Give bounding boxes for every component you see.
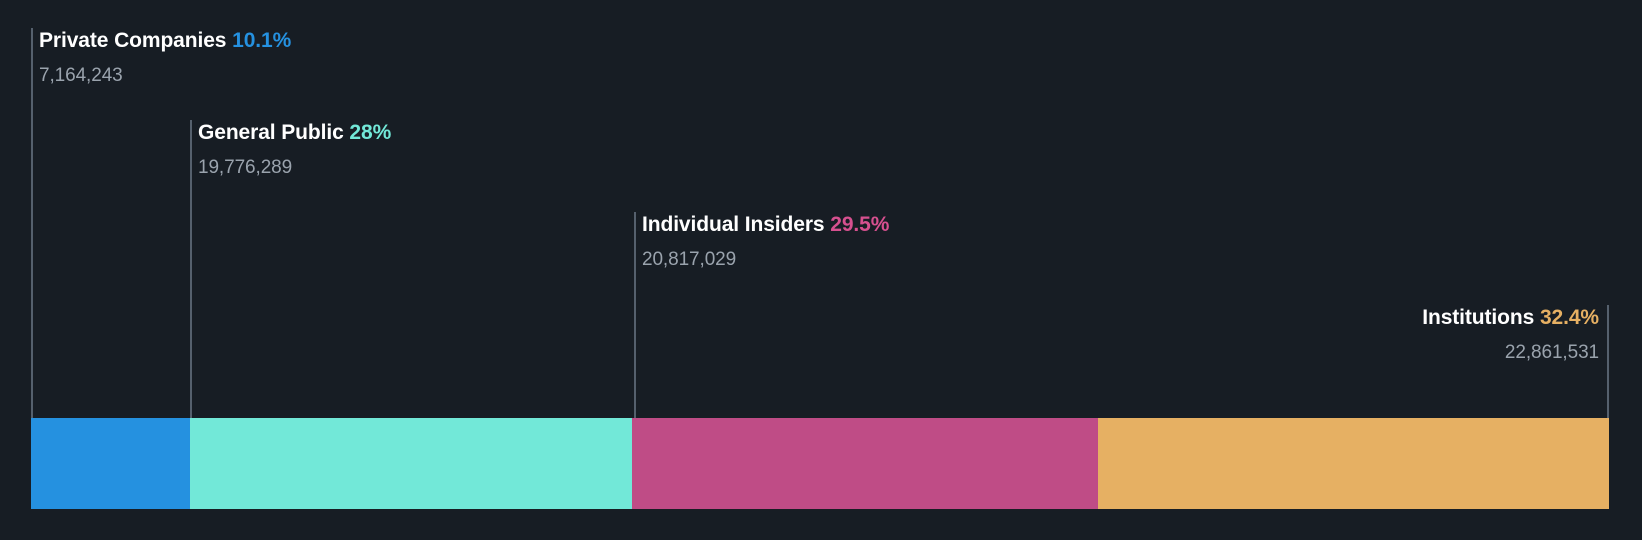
- callout-text-private-companies: Private Companies 10.1% 7,164,243: [39, 28, 291, 88]
- callout-individual-insiders[interactable]: Individual Insiders 29.5% 20,817,029: [634, 212, 984, 418]
- segment-count-general-public: 19,776,289: [198, 156, 391, 180]
- callout-title-institutions: Institutions 32.4%: [1422, 305, 1599, 331]
- callout-tick-general-public: [190, 120, 192, 418]
- bar-segment-private-companies[interactable]: [31, 418, 190, 509]
- ownership-breakdown-chart: Private Companies 10.1% 7,164,243 Genera…: [0, 0, 1642, 540]
- callout-tick-institutions: [1607, 305, 1609, 418]
- callout-text-institutions: Institutions 32.4% 22,861,531: [1422, 305, 1599, 365]
- segment-count-institutions: 22,861,531: [1422, 341, 1599, 365]
- segment-percent-general-public: 28%: [349, 121, 391, 144]
- callout-text-general-public: General Public 28% 19,776,289: [198, 120, 391, 180]
- callout-tick-private-companies: [31, 28, 33, 418]
- callout-tick-individual-insiders: [634, 212, 636, 418]
- segment-count-private-companies: 7,164,243: [39, 64, 291, 88]
- segment-label-institutions: Institutions: [1422, 306, 1534, 329]
- callout-title-private-companies: Private Companies 10.1%: [39, 28, 291, 54]
- callout-institutions[interactable]: Institutions 32.4% 22,861,531: [1259, 305, 1609, 418]
- stacked-bar: [31, 418, 1609, 509]
- segment-label-individual-insiders: Individual Insiders: [642, 213, 824, 236]
- segment-percent-institutions: 32.4%: [1540, 306, 1599, 329]
- bar-segment-general-public[interactable]: [190, 418, 632, 509]
- bar-segment-institutions[interactable]: [1098, 418, 1609, 509]
- segment-percent-individual-insiders: 29.5%: [830, 213, 889, 236]
- callout-text-individual-insiders: Individual Insiders 29.5% 20,817,029: [642, 212, 889, 272]
- segment-percent-private-companies: 10.1%: [232, 29, 291, 52]
- callout-title-individual-insiders: Individual Insiders 29.5%: [642, 212, 889, 238]
- segment-count-individual-insiders: 20,817,029: [642, 248, 889, 272]
- callout-general-public[interactable]: General Public 28% 19,776,289: [190, 120, 490, 418]
- segment-label-private-companies: Private Companies: [39, 29, 226, 52]
- bar-segment-individual-insiders[interactable]: [632, 418, 1098, 509]
- segment-label-general-public: General Public: [198, 121, 344, 144]
- callout-title-general-public: General Public 28%: [198, 120, 391, 146]
